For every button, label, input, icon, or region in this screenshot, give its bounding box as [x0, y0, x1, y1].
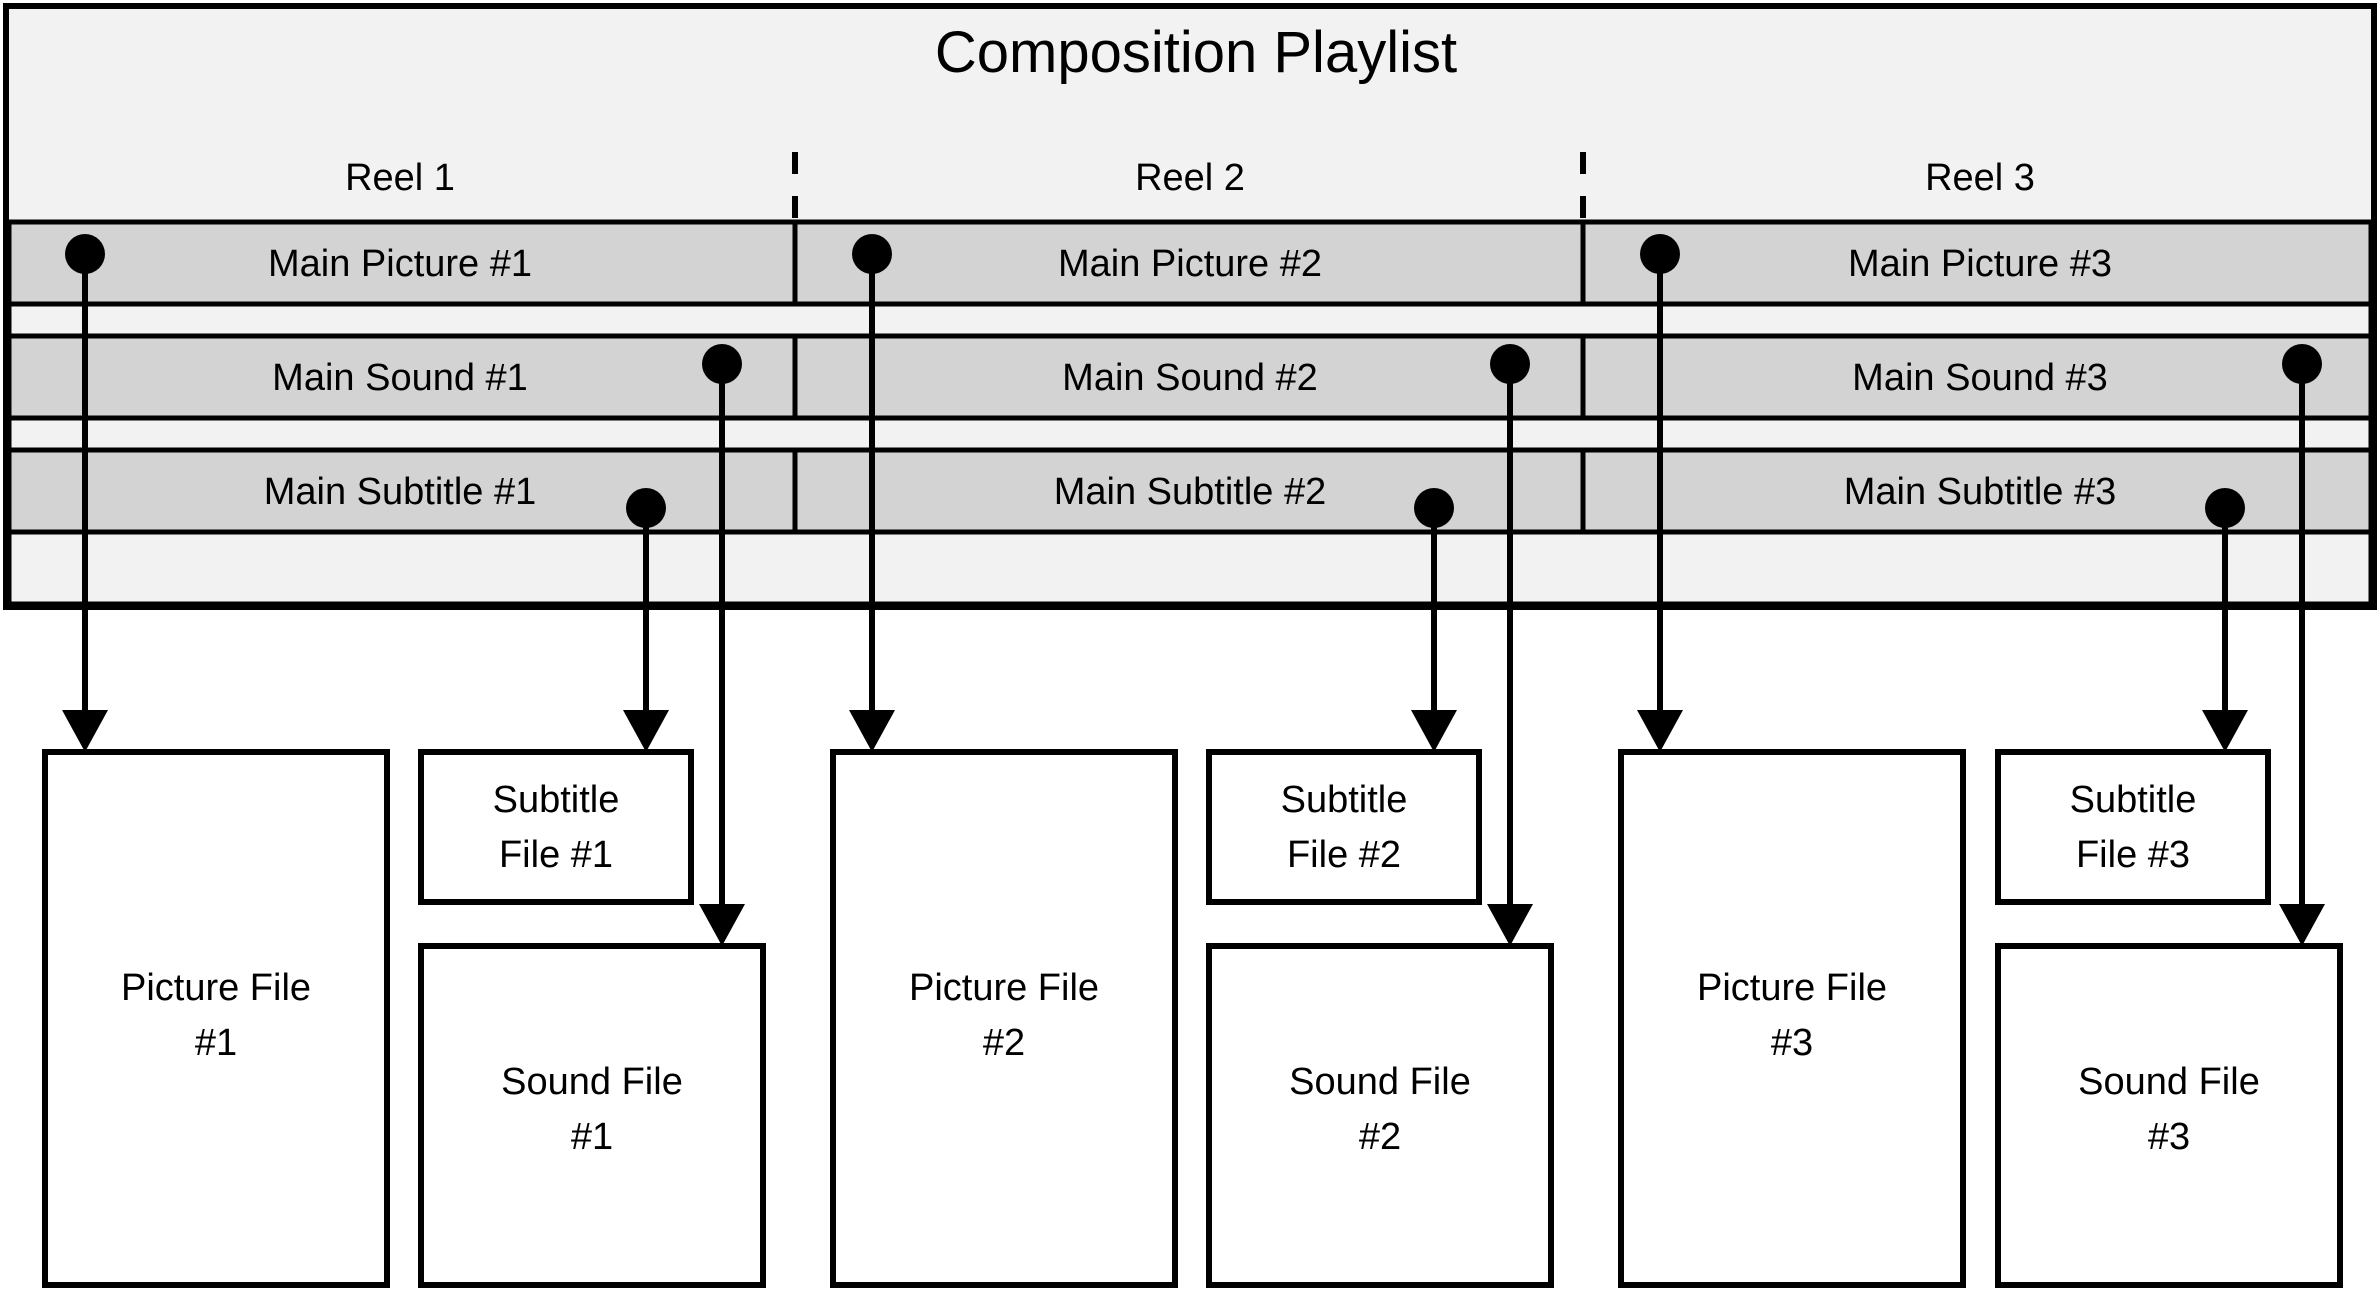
track-label-picture-2: Main Picture #2	[1058, 243, 1322, 285]
picture-file-label-2-line1: Picture File	[909, 967, 1099, 1009]
subtitle-file-box-1[interactable]	[421, 752, 691, 902]
arrowhead-subtitle-3	[2202, 710, 2248, 752]
subtitle-file-box-2[interactable]	[1209, 752, 1479, 902]
arrowhead-sound-3	[2279, 904, 2325, 946]
page-title: Composition Playlist	[935, 20, 1457, 85]
anchor-dot-picture-3	[1640, 234, 1680, 274]
arrowhead-picture-3	[1637, 710, 1683, 752]
track-label-sound-3: Main Sound #3	[1852, 357, 2108, 399]
picture-file-box-3[interactable]	[1621, 752, 1963, 1285]
anchor-dot-sound-3	[2282, 344, 2322, 384]
subtitle-file-label-2-line1: Subtitle	[1281, 779, 1408, 821]
subtitle-file-label-3-line1: Subtitle	[2070, 779, 2197, 821]
anchor-dot-subtitle-2	[1414, 488, 1454, 528]
reel-header-2: Reel 2	[1135, 157, 1245, 199]
subtitle-file-label-1-line2: File #1	[499, 834, 613, 876]
arrowhead-subtitle-1	[623, 710, 669, 752]
anchor-dot-subtitle-3	[2205, 488, 2245, 528]
composition-playlist-diagram: Composition Playlist Reel 1 Reel 2 Reel …	[0, 0, 2380, 1292]
diagram-canvas: Composition Playlist Reel 1 Reel 2 Reel …	[0, 0, 2380, 1292]
sound-file-label-2-line1: Sound File	[1289, 1061, 1471, 1103]
arrowhead-picture-1	[62, 710, 108, 752]
subtitle-file-label-3-line2: File #3	[2076, 834, 2190, 876]
picture-file-label-3-line1: Picture File	[1697, 967, 1887, 1009]
track-label-subtitle-3: Main Subtitle #3	[1844, 471, 2117, 513]
arrowhead-subtitle-2	[1411, 710, 1457, 752]
subtitle-file-label-1-line1: Subtitle	[493, 779, 620, 821]
track-label-sound-1: Main Sound #1	[272, 357, 528, 399]
subtitle-file-box-3[interactable]	[1998, 752, 2268, 902]
picture-file-label-3-line2: #3	[1771, 1022, 1813, 1064]
picture-file-label-1-line2: #1	[195, 1022, 237, 1064]
track-label-picture-3: Main Picture #3	[1848, 243, 2112, 285]
sound-file-label-2-line2: #2	[1359, 1116, 1401, 1158]
arrowhead-sound-1	[699, 904, 745, 946]
reel-header-1: Reel 1	[345, 157, 455, 199]
picture-file-box-2[interactable]	[833, 752, 1175, 1285]
track-gap-2	[9, 418, 2371, 450]
anchor-dot-sound-1	[702, 344, 742, 384]
sound-file-label-3-line2: #3	[2148, 1116, 2190, 1158]
track-label-picture-1: Main Picture #1	[268, 243, 532, 285]
reel-header-3: Reel 3	[1925, 157, 2035, 199]
anchor-dot-picture-2	[852, 234, 892, 274]
track-gap-bottom	[9, 532, 2371, 604]
sound-file-label-1-line2: #1	[571, 1116, 613, 1158]
anchor-dot-picture-1	[65, 234, 105, 274]
track-gap-1	[9, 304, 2371, 336]
track-label-sound-2: Main Sound #2	[1062, 357, 1318, 399]
subtitle-file-label-2-line2: File #2	[1287, 834, 1401, 876]
track-label-subtitle-1: Main Subtitle #1	[264, 471, 537, 513]
picture-file-label-2-line2: #2	[983, 1022, 1025, 1064]
arrowhead-sound-2	[1487, 904, 1533, 946]
sound-file-label-1-line1: Sound File	[501, 1061, 683, 1103]
picture-file-label-1-line1: Picture File	[121, 967, 311, 1009]
picture-file-box-1[interactable]	[45, 752, 387, 1285]
track-label-subtitle-2: Main Subtitle #2	[1054, 471, 1327, 513]
anchor-dot-subtitle-1	[626, 488, 666, 528]
anchor-dot-sound-2	[1490, 344, 1530, 384]
sound-file-label-3-line1: Sound File	[2078, 1061, 2260, 1103]
arrowhead-picture-2	[849, 710, 895, 752]
